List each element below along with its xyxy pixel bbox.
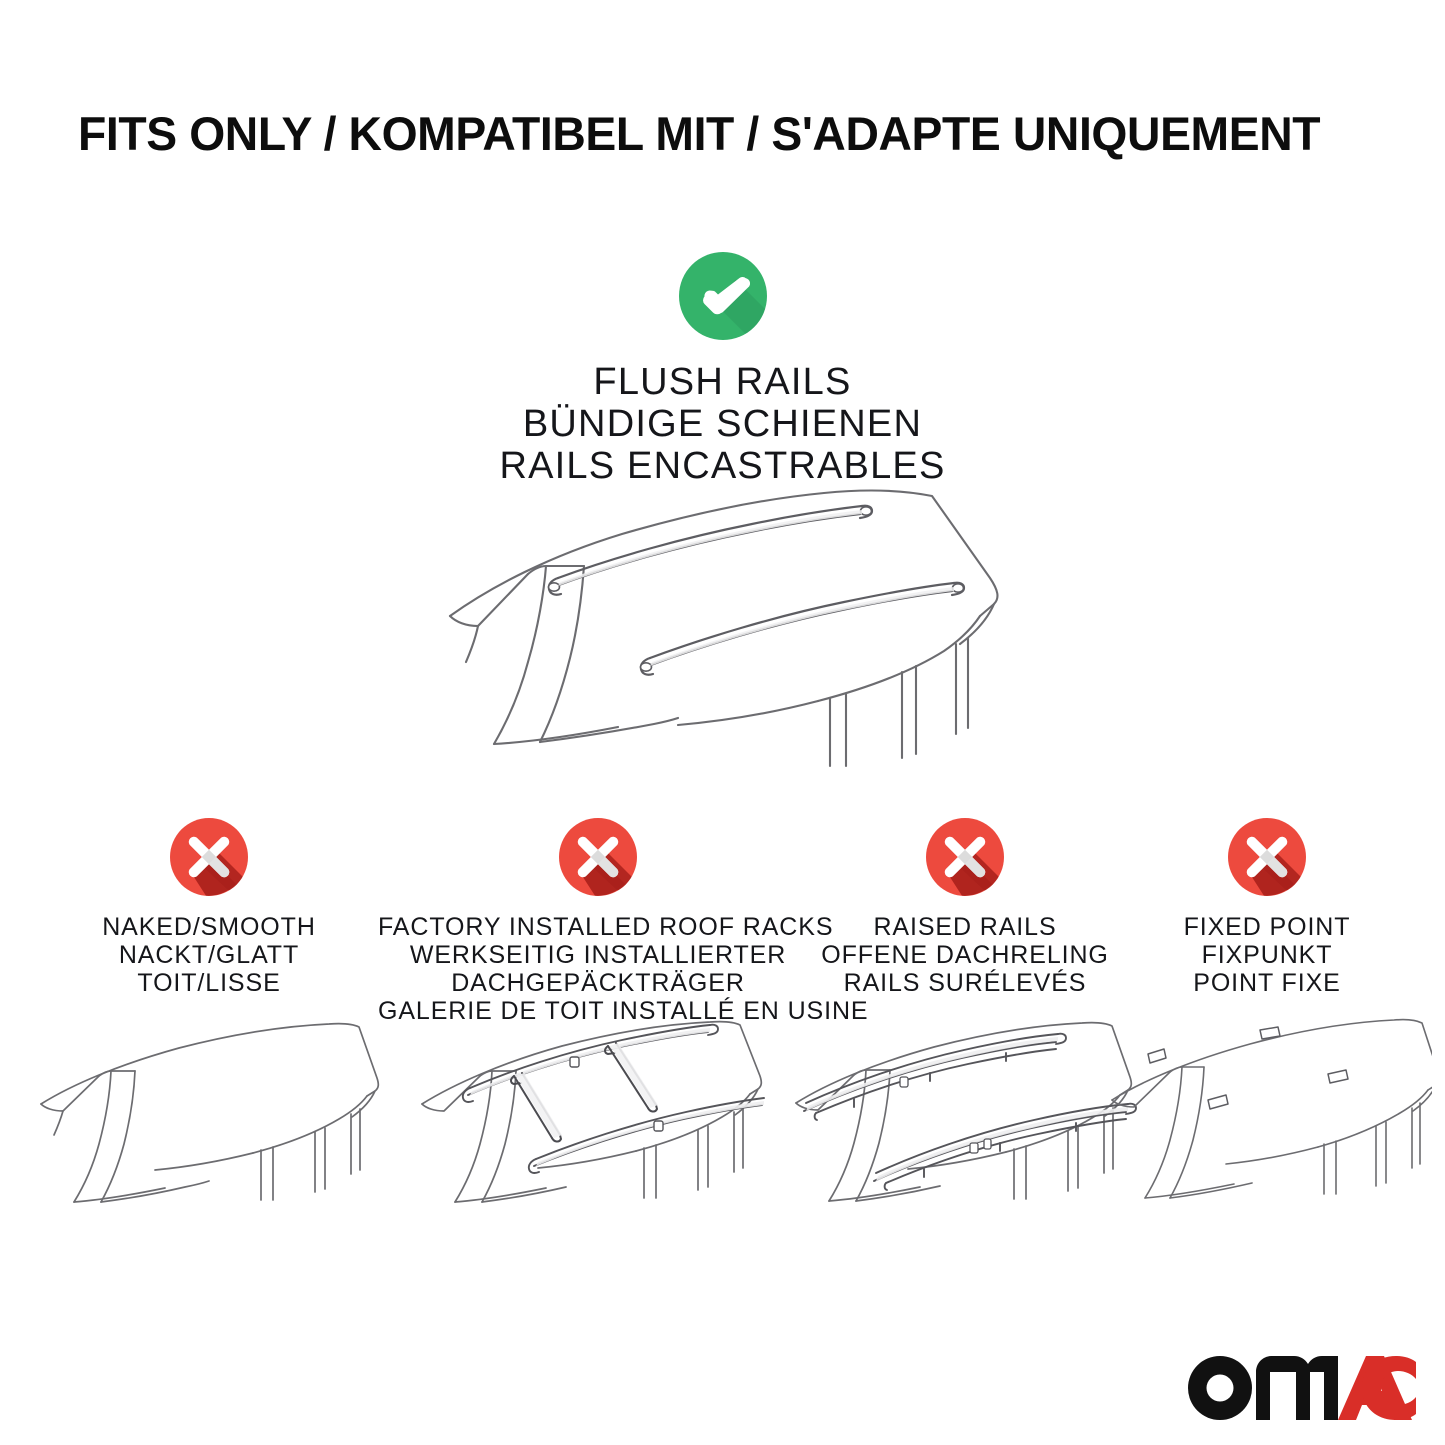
label-line: POINT FIXE: [1122, 969, 1412, 997]
car-roof-factory-roof-rack-illustration: [408, 996, 788, 1221]
label-line: FIXED POINT: [1122, 913, 1412, 941]
label-line: NACKT/GLATT: [24, 941, 394, 969]
incompatible-item-raised-rails: RAISED RAILS OFFENE DACHRELING RAILS SUR…: [800, 818, 1130, 997]
compatibility-infographic: FITS ONLY / KOMPATIBEL MIT / S'ADAPTE UN…: [0, 0, 1445, 1445]
x-circle-icon: [170, 818, 248, 896]
label-line: RAISED RAILS: [800, 913, 1130, 941]
page-title: FITS ONLY / KOMPATIBEL MIT / S'ADAPTE UN…: [78, 106, 1359, 162]
incompatible-label-raised-rails: RAISED RAILS OFFENE DACHRELING RAILS SUR…: [800, 913, 1130, 997]
check-circle-icon: [679, 252, 767, 340]
incompatible-item-naked-smooth: NAKED/SMOOTH NACKT/GLATT TOIT/LISSE: [24, 818, 394, 997]
car-roof-naked-smooth-illustration: [29, 1008, 389, 1213]
label-line: DACHGEPÄCKTRÄGER: [378, 969, 818, 997]
label-line: NAKED/SMOOTH: [24, 913, 394, 941]
car-roof-with-flush-rails-illustration: [432, 466, 1032, 776]
label-line: WERKSEITIG INSTALLIERTER: [378, 941, 818, 969]
compatible-label-en: FLUSH RAILS: [0, 361, 1445, 403]
label-line: RAILS SURÉLEVÉS: [800, 969, 1130, 997]
incompatible-label-fixed-point: FIXED POINT FIXPUNKT POINT FIXE: [1122, 913, 1412, 997]
x-circle-icon: [926, 818, 1004, 896]
incompatible-section: NAKED/SMOOTH NACKT/GLATT TOIT/LISSE: [0, 818, 1445, 1238]
incompatible-item-factory-roof-racks: FACTORY INSTALLED ROOF RACKS WERKSEITIG …: [378, 818, 818, 1025]
x-circle-icon: [559, 818, 637, 896]
compatible-label-de: BÜNDIGE SCHIENEN: [0, 403, 1445, 445]
omac-logo: [1188, 1354, 1420, 1422]
compatible-section: FLUSH RAILS BÜNDIGE SCHIENEN RAILS ENCAS…: [0, 252, 1445, 487]
incompatible-label-naked-smooth: NAKED/SMOOTH NACKT/GLATT TOIT/LISSE: [24, 913, 394, 997]
logo-letter-m: [1256, 1356, 1338, 1420]
label-line: TOIT/LISSE: [24, 969, 394, 997]
car-roof-raised-rails-illustration: [780, 1003, 1150, 1218]
car-roof-fixed-point-illustration: [1102, 1008, 1432, 1213]
label-line: FIXPUNKT: [1122, 941, 1412, 969]
label-line: FACTORY INSTALLED ROOF RACKS: [378, 913, 818, 941]
incompatible-item-fixed-point: FIXED POINT FIXPUNKT POINT FIXE: [1122, 818, 1412, 997]
label-line: OFFENE DACHRELING: [800, 941, 1130, 969]
x-circle-icon: [1228, 818, 1306, 896]
